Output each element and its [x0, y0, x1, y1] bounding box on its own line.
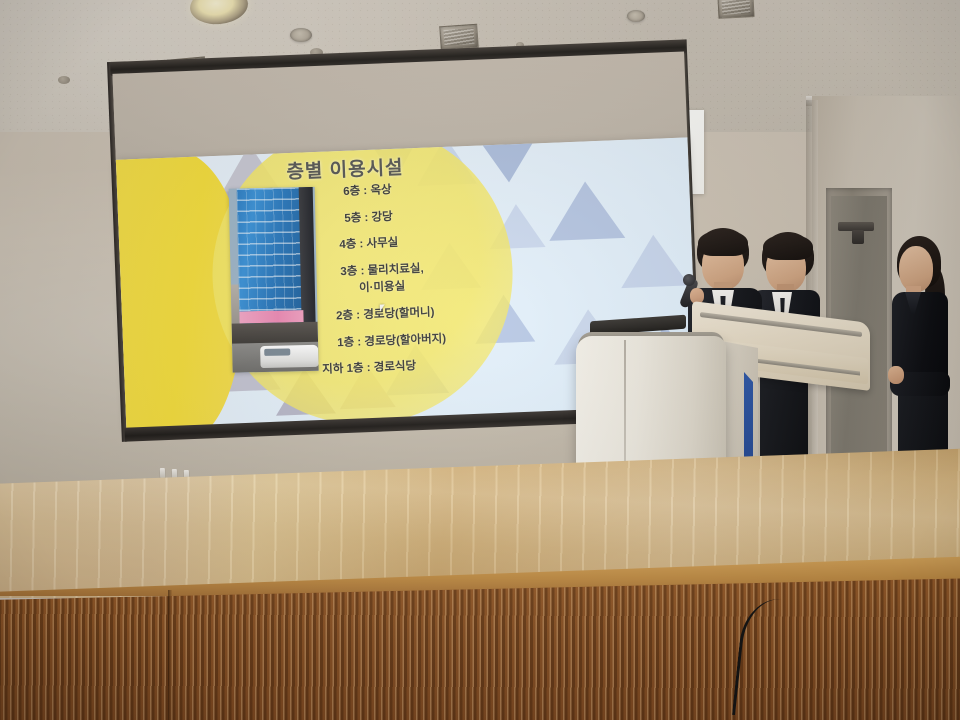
mouse-pointer-icon — [380, 304, 388, 311]
building-photo — [229, 187, 319, 373]
list-item: 1층 : 경로당(할아버지) — [335, 324, 585, 350]
stage-panel-seam — [168, 590, 172, 720]
door-closer-arm-icon — [852, 230, 864, 244]
ceiling-speaker-icon — [290, 28, 312, 42]
wall-hook-icon — [160, 468, 165, 478]
list-item: 지하 1층 : 경로식당 — [322, 351, 586, 377]
air-vent-icon — [439, 24, 479, 51]
list-item: 2층 : 경로당(할머니) — [334, 298, 584, 324]
presenter-2-fringe — [763, 234, 813, 260]
presenter-3-hands — [888, 366, 904, 384]
sprinkler-icon — [58, 76, 70, 84]
list-item: 5층 : 강당 — [330, 200, 580, 226]
white-van — [260, 345, 318, 368]
screenshot-root: 대학교 UNIVERSITY — [0, 0, 960, 720]
slide-list: 6층 : 옥상 5층 : 강당 4층 : 사무실 3층 : 물리치료실, 이·미… — [329, 174, 587, 387]
ceiling-speaker-icon — [627, 10, 645, 22]
deco-triangle — [619, 233, 689, 288]
air-vent-icon — [717, 0, 754, 19]
list-item: 4층 : 사무실 — [331, 227, 581, 253]
presenter-1-fringe — [698, 230, 748, 256]
microphone-head-icon — [683, 274, 695, 286]
